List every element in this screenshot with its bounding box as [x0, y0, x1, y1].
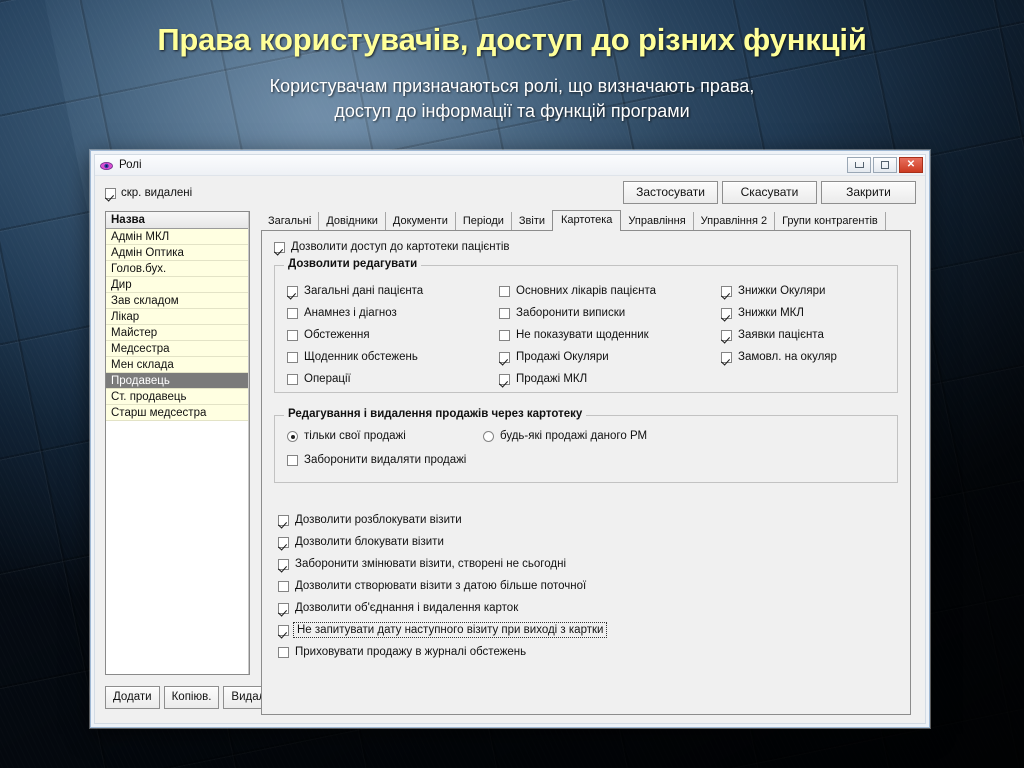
- checkbox-row: ОпераціїПродажі МКЛ: [287, 368, 889, 390]
- visit-option-label: Не запитувати дату наступного візиту при…: [295, 624, 605, 636]
- checkbox-box: [499, 308, 510, 319]
- visit-option-row: Дозволити розблокувати візити: [278, 509, 605, 531]
- visit-option-checkbox[interactable]: Заборонити змінювати візити, створені не…: [278, 558, 566, 570]
- checkbox-box: [721, 286, 732, 297]
- checkbox-box: [287, 374, 298, 385]
- edit-permission-label: Основних лікарів пацієнта: [516, 285, 656, 297]
- tab-5[interactable]: Картотека: [552, 210, 621, 231]
- allow-edit-group-legend: Дозволити редагувати: [284, 258, 421, 270]
- visit-option-checkbox[interactable]: Дозволити об'єднання і видалення карток: [278, 602, 518, 614]
- checkbox-box: [105, 188, 116, 199]
- visit-option-checkbox[interactable]: Не запитувати дату наступного візиту при…: [278, 624, 605, 636]
- list-item[interactable]: Медсестра: [106, 341, 249, 357]
- edit-permission-checkbox[interactable]: Анамнез і діагноз: [287, 307, 499, 319]
- window-toolbar: скр. видалені Застосувати Скасувати Закр…: [95, 176, 925, 210]
- sales-edit-group-legend: Редагування і видалення продажів через к…: [284, 408, 586, 420]
- visit-option-row: Дозволити блокувати візити: [278, 531, 605, 553]
- tab-strip: ЗагальніДовідникиДокументиПеріодиЗвітиКа…: [261, 211, 911, 231]
- edit-permission-checkbox[interactable]: Заборонити виписки: [499, 307, 721, 319]
- visit-option-row: Дозволити об'єднання і видалення карток: [278, 597, 605, 619]
- radio-dot: [287, 431, 298, 442]
- checkbox-box: [278, 603, 289, 614]
- roles-list-rows: Адмін МКЛАдмін ОптикаГолов.бух.ДирЗав ск…: [106, 229, 249, 421]
- tab-3[interactable]: Періоди: [456, 212, 512, 231]
- edit-permission-label: Заборонити виписки: [516, 307, 625, 319]
- visit-option-checkbox[interactable]: Приховувати продажу в журналі обстежень: [278, 646, 526, 658]
- eye-icon: [100, 159, 113, 171]
- checkbox-box: [721, 330, 732, 341]
- tab-1[interactable]: Довідники: [319, 212, 386, 231]
- edit-permission-label: Обстеження: [304, 329, 370, 341]
- edit-permission-checkbox[interactable]: Продажі Окуляри: [499, 351, 721, 363]
- checkbox-box: [721, 352, 732, 363]
- edit-permission-label: Заявки пацієнта: [738, 329, 824, 341]
- visit-option-label: Приховувати продажу в журналі обстежень: [295, 646, 526, 658]
- edit-permission-checkbox[interactable]: Операції: [287, 373, 499, 385]
- allow-card-access-checkbox[interactable]: Дозволити доступ до картотеки пацієнтів: [274, 241, 510, 253]
- list-item[interactable]: Адмін МКЛ: [106, 229, 249, 245]
- checkbox-box: [274, 242, 285, 253]
- copy-role-button[interactable]: Копіюв.: [164, 686, 220, 709]
- window-title: Ролі: [119, 159, 142, 171]
- list-item[interactable]: Голов.бух.: [106, 261, 249, 277]
- edit-permission-label: Знижки МКЛ: [738, 307, 804, 319]
- sales-scope-radio-group: тільки свої продажі будь-які продажі дан…: [287, 430, 647, 442]
- edit-permission-checkbox[interactable]: Загальні дані пацієнта: [287, 285, 499, 297]
- allow-card-access-label: Дозволити доступ до картотеки пацієнтів: [291, 241, 510, 253]
- checkbox-box: [499, 330, 510, 341]
- checkbox-row: Загальні дані пацієнтаОсновних лікарів п…: [287, 280, 889, 302]
- radio-own-sales[interactable]: тільки свої продажі: [287, 430, 483, 442]
- radio-any-sales-label: будь-які продажі даного РМ: [500, 430, 647, 442]
- checkbox-box: [278, 581, 289, 592]
- edit-permission-checkbox[interactable]: Знижки МКЛ: [721, 307, 804, 319]
- edit-permission-checkbox[interactable]: Основних лікарів пацієнта: [499, 285, 721, 297]
- list-item[interactable]: Адмін Оптика: [106, 245, 249, 261]
- forbid-delete-sales-label: Заборонити видаляти продажі: [304, 454, 466, 466]
- visit-option-label: Заборонити змінювати візити, створені не…: [295, 558, 566, 570]
- checkbox-box: [499, 352, 510, 363]
- window-controls: ✕: [847, 157, 923, 173]
- edit-permission-label: Знижки Окуляри: [738, 285, 825, 297]
- roles-list-pane: Назва Адмін МКЛАдмін ОптикаГолов.бух.Дир…: [105, 211, 250, 715]
- list-item[interactable]: Ст. продавець: [106, 389, 249, 405]
- checkbox-box: [287, 308, 298, 319]
- toolbar-buttons: Застосувати Скасувати Закрити: [623, 181, 916, 204]
- allow-edit-checkbox-grid: Загальні дані пацієнтаОсновних лікарів п…: [287, 280, 889, 390]
- edit-permission-label: Продажі МКЛ: [516, 373, 587, 385]
- tab-8[interactable]: Групи контрагентів: [775, 212, 886, 231]
- tab-2[interactable]: Документи: [386, 212, 456, 231]
- visit-option-label: Дозволити створювати візити з датою біль…: [295, 580, 586, 592]
- edit-permission-checkbox[interactable]: Обстеження: [287, 329, 499, 341]
- tab-panel-kartoteka: Дозволити доступ до картотеки пацієнтів …: [261, 230, 911, 715]
- visit-option-label: Дозволити розблокувати візити: [295, 514, 462, 526]
- visit-option-row: Заборонити змінювати візити, створені не…: [278, 553, 605, 575]
- window-titlebar: Ролі ✕: [95, 155, 925, 176]
- edit-permission-label: Анамнез і діагноз: [304, 307, 397, 319]
- page-subtitle-line-1: Користувачам призначаються ролі, що визн…: [0, 74, 1024, 99]
- checkbox-box: [499, 286, 510, 297]
- edit-permission-label: Операції: [304, 373, 351, 385]
- edit-permission-checkbox[interactable]: Щоденник обстежень: [287, 351, 499, 363]
- minimize-button[interactable]: [847, 157, 871, 173]
- forbid-delete-sales-checkbox[interactable]: Заборонити видаляти продажі: [287, 454, 466, 466]
- visit-option-label: Дозволити об'єднання і видалення карток: [295, 602, 518, 614]
- checkbox-box: [499, 374, 510, 385]
- close-dialog-button[interactable]: Закрити: [821, 181, 916, 204]
- visit-option-row: Приховувати продажу в журналі обстежень: [278, 641, 605, 663]
- list-item[interactable]: Мен склада: [106, 357, 249, 373]
- tab-7[interactable]: Управління 2: [694, 212, 775, 231]
- edit-permission-label: Загальні дані пацієнта: [304, 285, 423, 297]
- apply-button[interactable]: Застосувати: [623, 181, 718, 204]
- page-subtitle-line-2: доступ до інформації та функцій програми: [0, 99, 1024, 124]
- edit-permission-checkbox[interactable]: Продажі МКЛ: [499, 373, 721, 385]
- page-title: Права користувачів, доступ до різних фун…: [0, 22, 1024, 58]
- list-item[interactable]: Дир: [106, 277, 249, 293]
- visit-option-checkbox[interactable]: Дозволити розблокувати візити: [278, 514, 462, 526]
- tab-4[interactable]: Звіти: [512, 212, 553, 231]
- sales-edit-group: Редагування і видалення продажів через к…: [274, 415, 898, 483]
- visit-option-label: Дозволити блокувати візити: [295, 536, 444, 548]
- checkbox-row: Щоденник обстеженьПродажі ОкуляриЗамовл.…: [287, 346, 889, 368]
- radio-own-sales-label: тільки свої продажі: [304, 430, 406, 442]
- edit-permission-checkbox[interactable]: Знижки Окуляри: [721, 285, 825, 297]
- visit-option-row: Дозволити створювати візити з датою біль…: [278, 575, 605, 597]
- allow-edit-group: Дозволити редагувати Загальні дані паціє…: [274, 265, 898, 393]
- list-item[interactable]: Старш медсестра: [106, 405, 249, 421]
- checkbox-box: [287, 352, 298, 363]
- maximize-button[interactable]: [873, 157, 897, 173]
- checkbox-box: [278, 537, 289, 548]
- checkbox-box: [278, 515, 289, 526]
- visit-option-checkbox[interactable]: Дозволити створювати візити з датою біль…: [278, 580, 586, 592]
- checkbox-row: Анамнез і діагнозЗаборонити випискиЗнижк…: [287, 302, 889, 324]
- checkbox-box: [278, 647, 289, 658]
- list-item[interactable]: Продавець: [106, 373, 249, 389]
- hide-deleted-checkbox[interactable]: скр. видалені: [105, 187, 192, 199]
- checkbox-box: [287, 455, 298, 466]
- checkbox-row: ОбстеженняНе показувати щоденникЗаявки п…: [287, 324, 889, 346]
- list-item[interactable]: Зав складом: [106, 293, 249, 309]
- radio-dot: [483, 431, 494, 442]
- list-column-divider: [248, 212, 249, 674]
- tab-0[interactable]: Загальні: [261, 212, 319, 231]
- edit-permission-label: Щоденник обстежень: [304, 351, 418, 363]
- list-item[interactable]: Майстер: [106, 325, 249, 341]
- add-role-button[interactable]: Додати: [105, 686, 160, 709]
- roles-listbox[interactable]: Назва Адмін МКЛАдмін ОптикаГолов.бух.Дир…: [105, 211, 250, 675]
- visit-option-row: Не запитувати дату наступного візиту при…: [278, 619, 605, 641]
- permissions-tab-area: ЗагальніДовідникиДокументиПеріодиЗвітиКа…: [261, 211, 911, 715]
- roles-list-buttons: Додати Копіюв. Видал.: [105, 686, 277, 709]
- edit-permission-label: Не показувати щоденник: [516, 329, 649, 341]
- edit-permission-checkbox[interactable]: Замовл. на окуляр: [721, 351, 837, 363]
- roles-list-header: Назва: [106, 212, 249, 229]
- visit-options-list: Дозволити розблокувати візитиДозволити б…: [278, 509, 605, 663]
- cancel-button[interactable]: Скасувати: [722, 181, 817, 204]
- page-subtitle: Користувачам призначаються ролі, що визн…: [0, 74, 1024, 124]
- radio-any-sales[interactable]: будь-які продажі даного РМ: [483, 430, 647, 442]
- edit-permission-label: Продажі Окуляри: [516, 351, 609, 363]
- hide-deleted-label: скр. видалені: [121, 187, 192, 199]
- checkbox-box: [278, 559, 289, 570]
- checkbox-box: [287, 286, 298, 297]
- list-item[interactable]: Лікар: [106, 309, 249, 325]
- edit-permission-checkbox[interactable]: Не показувати щоденник: [499, 329, 721, 341]
- edit-permission-label: Замовл. на окуляр: [738, 351, 837, 363]
- tab-6[interactable]: Управління: [621, 212, 693, 231]
- visit-option-checkbox[interactable]: Дозволити блокувати візити: [278, 536, 444, 548]
- checkbox-box: [287, 330, 298, 341]
- edit-permission-checkbox[interactable]: Заявки пацієнта: [721, 329, 824, 341]
- close-button[interactable]: ✕: [899, 157, 923, 173]
- checkbox-box: [721, 308, 732, 319]
- checkbox-box: [278, 625, 289, 636]
- roles-window: Ролі ✕ скр. видалені Застосувати Скасува…: [90, 150, 930, 728]
